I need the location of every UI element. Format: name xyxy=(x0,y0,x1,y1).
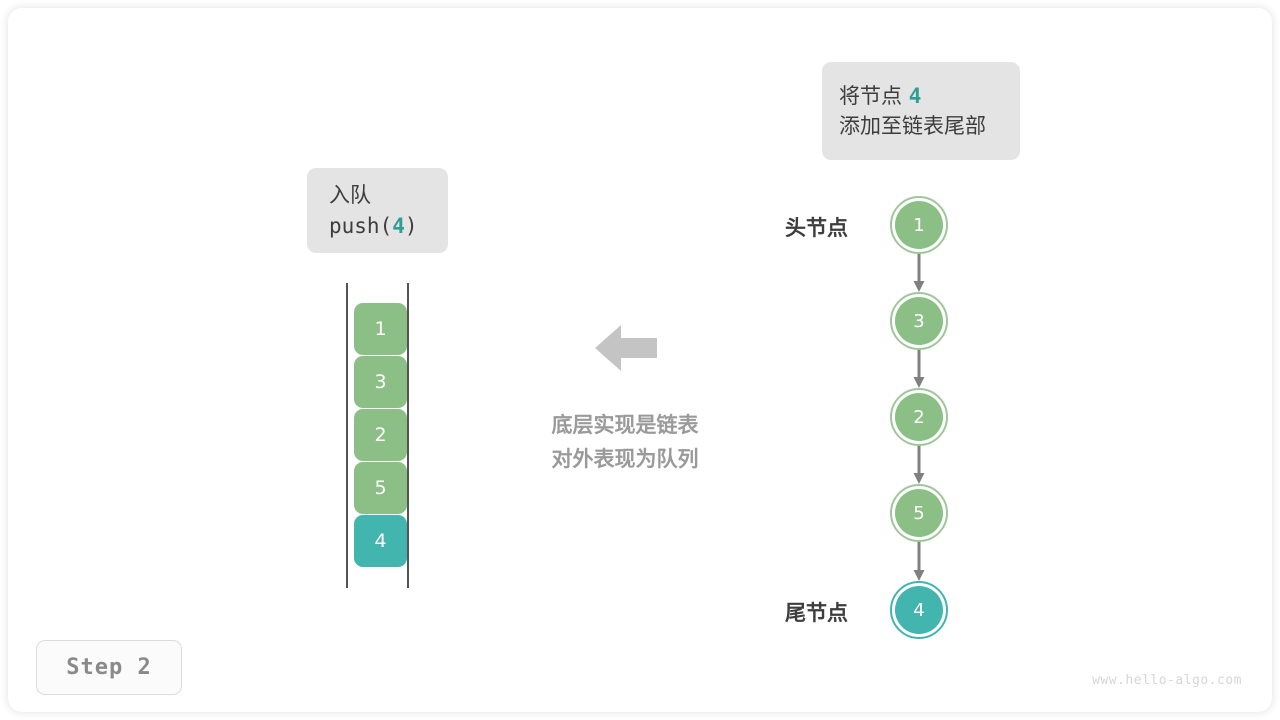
queue-cell: 1 xyxy=(354,303,407,355)
callout-append-line1-value: 4 xyxy=(909,84,922,108)
list-node: 2 xyxy=(890,388,948,446)
node-connector-arrow xyxy=(912,446,926,484)
queue-cell: 2 xyxy=(354,409,407,461)
callout-push: 入队 push(4) xyxy=(307,168,448,253)
callout-append-line1: 将节点 4 xyxy=(839,81,1020,111)
queue-rail-left xyxy=(346,283,348,588)
callout-push-code-prefix: push( xyxy=(329,214,392,238)
queue-cell: 3 xyxy=(354,356,407,408)
watermark: www.hello-algo.com xyxy=(1092,673,1242,688)
queue-cell-list: 13254 xyxy=(354,303,407,567)
step-badge: Step 2 xyxy=(36,640,182,695)
callout-push-code-value: 4 xyxy=(392,214,405,238)
callout-push-code: push(4) xyxy=(329,211,448,241)
node-connector-arrow xyxy=(912,350,926,388)
list-node: 3 xyxy=(890,292,948,350)
tail-node-label: 尾节点 xyxy=(785,597,848,627)
callout-append-node: 将节点 4 添加至链表尾部 xyxy=(822,62,1020,160)
list-node-value: 1 xyxy=(895,201,943,249)
callout-append-line1-prefix: 将节点 xyxy=(839,84,909,108)
center-caption: 底层实现是链表 对外表现为队列 xyxy=(505,408,745,476)
queue-diagram: 13254 xyxy=(340,283,412,588)
list-node: 1 xyxy=(890,196,948,254)
list-node: 5 xyxy=(890,484,948,542)
arrow-left-icon xyxy=(595,323,657,373)
list-node-value: 4 xyxy=(895,586,943,634)
list-node-value: 2 xyxy=(895,393,943,441)
callout-push-title: 入队 xyxy=(329,180,448,210)
center-caption-line2: 对外表现为队列 xyxy=(505,442,745,476)
list-node: 4 xyxy=(890,581,948,639)
queue-rail-right xyxy=(407,283,409,588)
queue-cell: 5 xyxy=(354,462,407,514)
callout-push-code-suffix: ) xyxy=(405,214,418,238)
list-node-value: 3 xyxy=(895,297,943,345)
figure-canvas: 入队 push(4) 将节点 4 添加至链表尾部 13254 底层实现是链表 对… xyxy=(0,0,1280,720)
callout-append-line2: 添加至链表尾部 xyxy=(839,111,1020,141)
center-caption-line1: 底层实现是链表 xyxy=(505,408,745,442)
node-connector-arrow xyxy=(912,542,926,581)
queue-cell: 4 xyxy=(354,515,407,567)
node-connector-arrow xyxy=(912,254,926,292)
list-node-value: 5 xyxy=(895,489,943,537)
head-node-label: 头节点 xyxy=(785,212,848,242)
